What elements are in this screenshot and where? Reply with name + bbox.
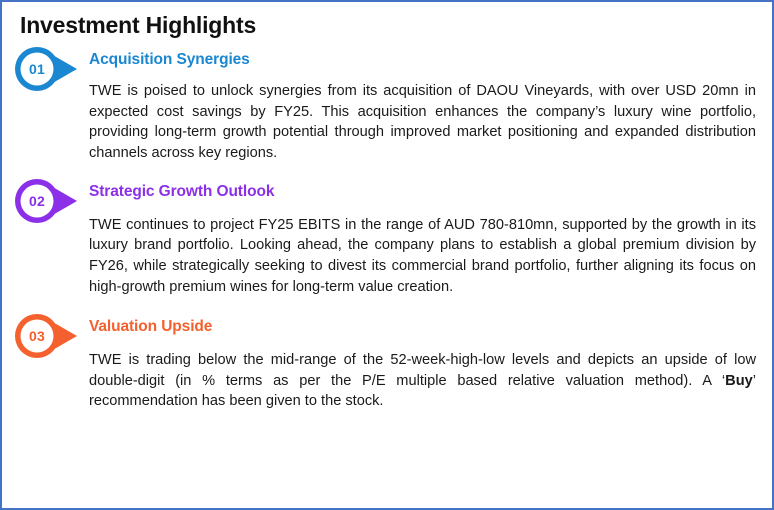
section-body-bold: Buy bbox=[725, 373, 753, 389]
section-body-part-1: TWE is trading below the mid-range of th… bbox=[89, 352, 756, 389]
numbered-arrow-badge-icon: 03 bbox=[14, 313, 80, 359]
section-body-part-1: TWE is poised to unlock synergies from i… bbox=[89, 83, 756, 161]
section-heading: Valuation Upside bbox=[89, 318, 756, 337]
highlight-section-3: 03 Valuation Upside TWE is trading below… bbox=[14, 311, 760, 412]
numbered-arrow-badge-icon: 02 bbox=[14, 178, 80, 224]
section-heading: Strategic Growth Outlook bbox=[89, 183, 756, 202]
badge-number: 01 bbox=[14, 46, 60, 92]
section-body-text: TWE continues to project FY25 EBITS in t… bbox=[89, 215, 756, 298]
section-heading: Acquisition Synergies bbox=[89, 51, 756, 70]
section-body-part-1: TWE continues to project FY25 EBITS in t… bbox=[89, 217, 756, 295]
numbered-arrow-badge-icon: 01 bbox=[14, 46, 80, 92]
section-body-text: TWE is poised to unlock synergies from i… bbox=[89, 81, 756, 164]
highlight-section-1: 01 Acquisition Synergies TWE is poised t… bbox=[14, 44, 760, 163]
investment-highlights-page: Investment Highlights 01 Acquisition Syn… bbox=[0, 0, 774, 510]
badge-number: 03 bbox=[14, 313, 60, 359]
highlight-section-2: 02 Strategic Growth Outlook TWE continue… bbox=[14, 176, 760, 297]
section-body-text: TWE is trading below the mid-range of th… bbox=[89, 350, 756, 412]
badge-number: 02 bbox=[14, 178, 60, 224]
page-title: Investment Highlights bbox=[20, 12, 760, 38]
